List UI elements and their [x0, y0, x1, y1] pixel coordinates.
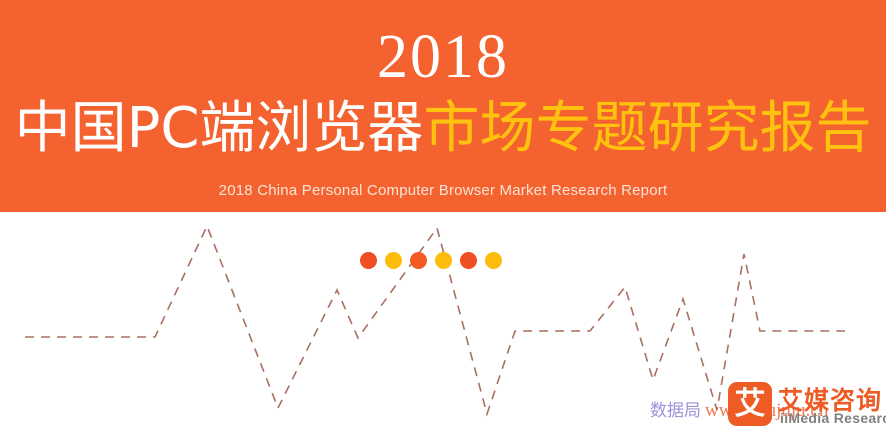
page-title-yellow-part: 市场专题研究报告	[423, 96, 871, 161]
logo-mark-icon: 艾	[728, 382, 772, 426]
decorative-dot-3	[410, 252, 427, 269]
cover-year: 2018	[0, 22, 886, 92]
imedia-logo: 艾 艾媒咨询 iiMedia Research	[728, 380, 880, 430]
decorative-dot-2	[385, 252, 402, 269]
decorative-dot-4	[435, 252, 452, 269]
dot-row	[360, 252, 500, 270]
header-band: 2018 中国PC端浏览器市场专题研究报告 2018 China Persona…	[0, 0, 886, 212]
page-subtitle: 2018 China Personal Computer Browser Mar…	[0, 182, 886, 199]
page-title-white-part: 中国PC端浏览器	[15, 96, 424, 161]
page-title: 中国PC端浏览器市场专题研究报告	[0, 96, 886, 162]
decorative-dot-5	[460, 252, 477, 269]
decorative-dot-6	[485, 252, 502, 269]
decorative-dot-1	[360, 252, 377, 269]
logo-name-en: iiMedia Research	[780, 410, 886, 426]
report-cover-slide: 2018 中国PC端浏览器市场专题研究报告 2018 China Persona…	[0, 0, 886, 438]
watermark-label: 数据局	[650, 401, 701, 421]
logo-mark-glyph: 艾	[728, 382, 772, 426]
